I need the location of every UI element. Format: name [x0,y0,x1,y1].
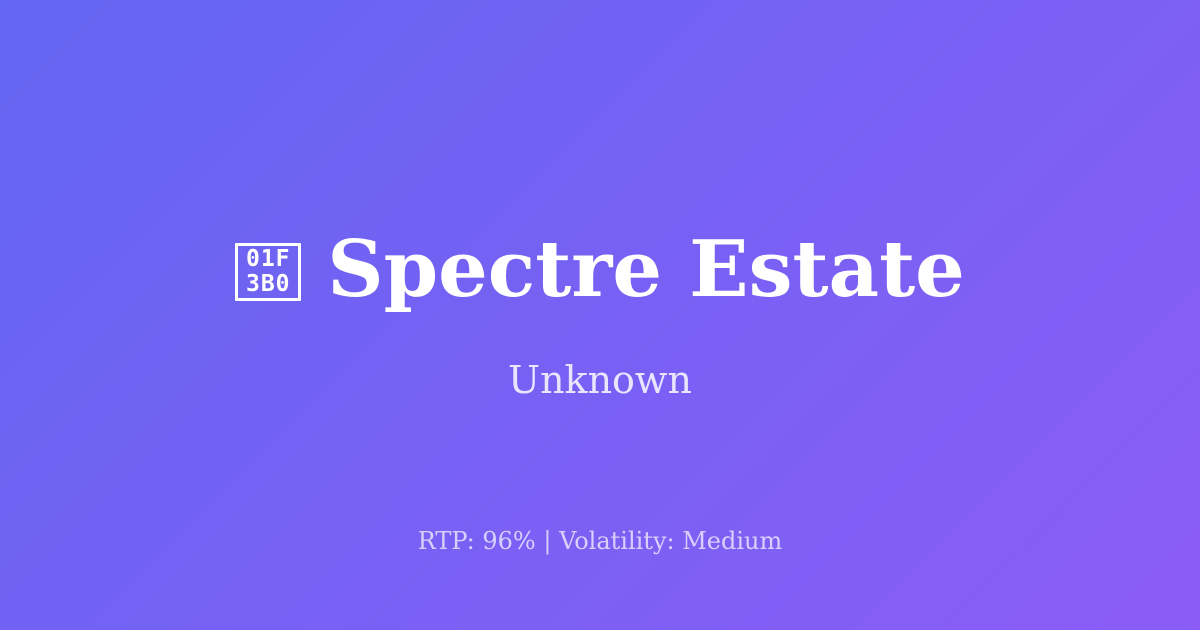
game-provider-subtitle: Unknown [508,361,692,399]
game-title-text: Spectre Estate [327,231,964,309]
tofu-codepoint-bottom: 3B0 [246,272,291,297]
game-stats-footer: RTP: 96% | Volatility: Medium [0,529,1200,553]
page-title: 01F 3B0 Spectre Estate [235,231,964,309]
tofu-codepoint-top: 01F [246,247,291,272]
slot-machine-icon: 01F 3B0 [235,243,301,301]
game-preview-card: 01F 3B0 Spectre Estate Unknown RTP: 96% … [0,0,1200,630]
